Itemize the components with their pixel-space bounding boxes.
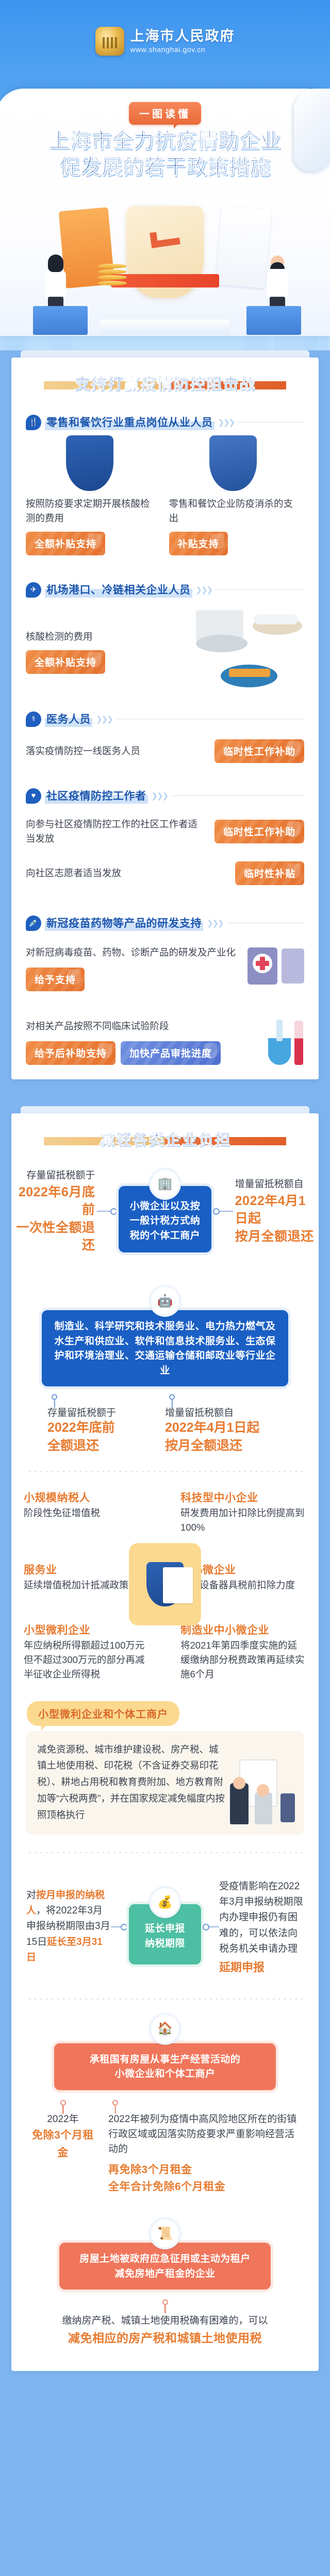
divider-line: [171, 795, 304, 796]
syringe-vaccine-icon: 💉: [26, 916, 41, 931]
subgroup-vaccine-rd: 💉 新冠疫苗药物等产品的研发支持 ❯❯❯: [11, 915, 319, 931]
small-profit-and-self-employed-block: 小型微利企业和个体工商户 减免资源税、城市维护建设税、房产税、城镇土地使用税、印…: [11, 1701, 319, 1835]
six-taxes-two-fees-text: 减免资源税、城市维护建设税、房产税、城镇土地使用税、印花税（不含证券交易印花税）…: [37, 1741, 226, 1823]
node1-left-emph1: 2022年6月底前: [11, 1183, 95, 1219]
node2-right-emph2: 按月全额退还: [165, 1437, 283, 1455]
card-lip-section1: [21, 350, 309, 358]
node2-left-emph1: 2022年底前: [47, 1419, 165, 1437]
tax-consult-people-icon: [228, 1759, 295, 1826]
pill-full-subsidy: 全额补贴支持: [26, 650, 105, 674]
cell-title: 科技型中小企业: [180, 1489, 306, 1505]
node2-left-emph2: 全额退还: [47, 1437, 165, 1455]
node1-right-lead: 增量留抵税额自: [235, 1177, 319, 1192]
pill-give-support: 给予支持: [26, 968, 85, 991]
doctor-icon: ⚕: [26, 711, 41, 727]
node3-right-text: 受疫情影响在2022年3月申报纳税期限内办理申报仍有困难的，可以依法向税务机关申…: [219, 1879, 317, 1975]
item-text: 落实疫情防控一线医务人员: [26, 744, 206, 758]
page-title-line1: 上海市全力抗疫情助企业: [0, 128, 330, 154]
node4-right-body: 2022年被列为疫情中高风险地区所在的街镇行政区域或因落实防疫要求严重影响经营活…: [108, 2112, 303, 2157]
node2-right-emph1: 2022年4月1日起: [165, 1419, 283, 1437]
section1-heading: 支持打赢疫情防控阻击战: [11, 358, 319, 405]
item-nucleic-test-cost-logistics: 核酸检测的费用 全额补贴支持: [26, 617, 191, 676]
white-document-icon: [216, 206, 272, 289]
subgroup-medical-staff: ⚕ 医务人员 ❯❯❯: [11, 711, 319, 727]
volunteer-item-row: 向社区志愿者适当发放 临时性补贴: [11, 846, 319, 885]
section2-card: 减轻各类企业负担 存量留抵税额于 2022年6月底前 一次性全额退还 🏢 小微企…: [11, 1113, 319, 2371]
node2-right-lead: 增量留抵税额自: [165, 1405, 283, 1419]
dotted-divider: [27, 1998, 303, 1999]
property-land-deed-icon: 📜: [149, 2217, 181, 2249]
radial-cell-manufacturing-msme: 制造业中小微企业 将2021年第四季度实施的延缓缴纳部分税费政策再延续实施6个月: [165, 1622, 319, 1681]
node1-right-emph1: 2022年4月1日起: [235, 1192, 319, 1228]
divider-line: [116, 719, 304, 719]
node1-right-emph2: 按月全额退还: [235, 1228, 319, 1246]
robot-arm-manufacturing-icon: 🤖: [149, 1285, 181, 1317]
retail-items-row: 按照防疫要求定期开展核酸检测的费用 全额补贴支持 零售和餐饮企业防疫消杀的支出 …: [11, 435, 319, 558]
node4-label-line1: 承租国有房屋从事生产经营活动的: [63, 2053, 267, 2067]
read-in-one-chart-badge: 一图读懂: [129, 102, 201, 125]
connector-right: [214, 1211, 233, 1212]
subgroup-label: 社区疫情防控工作者: [45, 788, 148, 804]
small-business-building-icon: 🏢: [149, 1168, 181, 1200]
node5-label-line2: 减免房地产租金的企业: [69, 2267, 261, 2282]
node2-right-text: 增量留抵税额自 2022年4月1日起 按月全额退还: [165, 1394, 283, 1454]
disinfection-workers-shield-icon: [209, 435, 257, 491]
subgroup-label: 零售和餐饮行业重点岗位从业人员: [45, 414, 214, 430]
restaurant-cutlery-icon: 🍴: [26, 415, 41, 430]
node1-left-lead: 存量留抵税额于: [11, 1168, 95, 1183]
node5-body-emph: 减免相应的房产税和城镇土地使用税: [27, 2329, 303, 2348]
item-text: 对新冠病毒疫苗、药物、诊断产品的研发及产业化: [26, 945, 240, 960]
pin-marker: [112, 2100, 118, 2106]
connector-left: [111, 1926, 126, 1927]
node4-left-text: 2022年 免除3个月租金: [27, 2100, 99, 2162]
node4-right-emph1: 再免除3个月租金: [108, 2161, 303, 2179]
radial-row-bottom: 小型微利企业 年应纳税所得额超过100万元但不超过300万元的部分再减半征收企业…: [11, 1622, 319, 1681]
podium-right: [246, 306, 301, 335]
hero-banner: 上海市人民政府 www.shanghai.gov.cn 一图读懂 上海市全力抗疫…: [0, 0, 330, 350]
check-icon: [150, 229, 180, 248]
pill-full-subsidy: 全额补贴支持: [26, 532, 105, 555]
pill-post-subsidy-support: 给予后补助支持: [26, 1041, 115, 1065]
pin-marker: [169, 1394, 175, 1400]
airport-items-row: 核酸检测的费用 全额补贴支持: [11, 603, 319, 690]
node4-label-line2: 小微企业和个体工商户: [63, 2067, 267, 2082]
medicine-pills-cross-icon: [247, 945, 304, 987]
divider-line: [238, 422, 304, 422]
lab-flask-test-tube-icon: [268, 1011, 304, 1065]
item-text: 向参与社区疫情防控工作的社区工作者适当发放: [26, 817, 206, 846]
tax-exemption-handshake-icon: [129, 1543, 201, 1625]
radial-cell-tech-sme: 科技型中小企业 研发费用加计扣除比例提高到100%: [165, 1489, 319, 1535]
coin-stack-icon: [98, 264, 127, 287]
node2-left-lead: 存量留抵税额于: [47, 1405, 165, 1419]
gov-url: www.shanghai.gov.cn: [130, 46, 235, 54]
pin-marker: [60, 2100, 66, 2106]
radial-cell-small-taxpayer: 小规模纳税人 阶段性免征增值税: [11, 1489, 165, 1535]
node4-left-emph: 免除3个月租金: [27, 2127, 99, 2161]
podium-center: [101, 319, 229, 335]
logistics-truck-plane-ship-icon: [191, 603, 304, 690]
subgroup-label: 医务人员: [45, 711, 92, 727]
item-text: 向社区志愿者适当发放: [26, 866, 227, 880]
section2-heading: 减轻各类企业负担: [11, 1113, 319, 1161]
connector-right: [204, 1926, 219, 1927]
section2-heading-text: 减轻各类企业负担: [11, 1127, 319, 1149]
community-volunteer-icon: ♥: [26, 788, 41, 804]
node-filing-extension: 对按月申报的纳税人，将2022年3月申报纳税期限由3月15日延长至3月31日 💰…: [11, 1867, 319, 1978]
subgroup-retail-catering: 🍴 零售和餐饮行业重点岗位从业人员 ❯❯❯: [11, 414, 319, 430]
dotted-divider: [27, 1852, 303, 1853]
node-small-micro-enterprise: 存量留抵税额于 2022年6月底前 一次性全额退还 🏢 小微企业以及按一般计税方…: [11, 1161, 319, 1259]
node1-left-emph2: 一次性全额退还: [11, 1219, 95, 1255]
tax-extension-coin-icon: 💰: [149, 1886, 181, 1918]
airplane-icon: ✈: [26, 582, 41, 598]
house-lease-document-icon: 🏠: [149, 2013, 181, 2045]
cell-body: 将2021年第四季度实施的延缓缴纳部分税费政策再延续实施6个月: [180, 1638, 306, 1681]
cell-body: 研发费用加计扣除比例提高到100%: [180, 1506, 306, 1535]
chevron-right-icon: ❯❯❯: [152, 791, 168, 801]
connector-left: [97, 1211, 116, 1212]
divider-line: [216, 589, 304, 590]
node2-label: 制造业、科学研究和技术服务业、电力热力燃气及水生产和供应业、软件和信息技术服务业…: [39, 1308, 291, 1389]
pin-marker: [52, 1394, 57, 1400]
cell-body: 阶段性免征增值税: [24, 1506, 153, 1520]
node2-left-text: 存量留抵税额于 2022年底前 全额退还: [47, 1394, 165, 1454]
pill-accelerate-approval: 加快产品审批进度: [121, 1041, 221, 1065]
gov-title: 上海市人民政府: [130, 29, 235, 43]
chevron-right-icon: ❯❯❯: [96, 715, 112, 724]
item-text: 按照防疫要求定期开展核酸检测的费用: [26, 497, 154, 526]
node1-left-text: 存量留抵税额于 2022年6月底前 一次性全额退还: [11, 1168, 97, 1255]
item-text: 对相关产品按照不同临床试验阶段: [26, 1019, 262, 1033]
community-worker-item-row: 向参与社区疫情防控工作的社区工作者适当发放 临时性工作补助: [11, 809, 319, 846]
node3-right-pre: 受疫情影响在2022年3月申报纳税期限内办理申报仍有困难的，可以依法向税务机关申…: [219, 1879, 305, 1957]
chevron-right-icon: ❯❯❯: [196, 585, 212, 595]
pill-subsidy: 补贴支持: [169, 532, 228, 555]
radial-row-top: 小规模纳税人 阶段性免征增值税 科技型中小企业 研发费用加计扣除比例提高到100…: [11, 1489, 319, 1535]
tax-relief-radial-grid: 小规模纳税人 阶段性免征增值税 科技型中小企业 研发费用加计扣除比例提高到100…: [11, 1485, 319, 1684]
medical-item-row: 落实疫情防控一线医务人员 临时性工作补助: [11, 732, 319, 763]
vaccine-rd-item-row: 对新冠病毒疫苗、药物、诊断产品的研发及产业化 给予支持: [11, 936, 319, 993]
nucleic-acid-test-shield-icon: [66, 435, 113, 491]
chevron-right-icon: ❯❯❯: [218, 418, 235, 427]
dotted-divider: [27, 1471, 303, 1472]
tag-small-profit-self-employed: 小型微利企业和个体工商户: [27, 1701, 179, 1726]
node3-left-pre: 对: [26, 1890, 36, 1901]
node4-right-emph2: 全年合计免除6个月租金: [108, 2178, 303, 2196]
node4-left-year: 2022年: [27, 2112, 99, 2127]
podium-left: [33, 306, 88, 335]
radial-cell-small-profit-enterprise: 小型微利企业 年应纳税所得额超过100万元但不超过300万元的部分再减半征收企业…: [11, 1622, 165, 1681]
page-title: 上海市全力抗疫情助企业 促发展的若干政策措施: [0, 128, 330, 180]
shanghai-government-emblem-icon: [95, 27, 124, 56]
chevron-right-icon: ❯❯❯: [207, 919, 223, 928]
node4-right-text: 2022年被列为疫情中高风险地区所在的街镇行政区域或因落实防疫要求严重影响经营活…: [108, 2100, 303, 2196]
page-title-line2: 促发展的若干政策措施: [0, 154, 330, 180]
node-property-tax-relief: 📜 房屋土地被政府应急征用或主动为租户 减免房地产租金的企业 缴纳房产税、城镇土…: [11, 2217, 319, 2350]
section1-heading-text: 支持打赢疫情防控阻击战: [11, 371, 319, 394]
subgroup-community-workers: ♥ 社区疫情防控工作者 ❯❯❯: [11, 788, 319, 804]
pill-temporary-work-allowance: 临时性工作补助: [214, 820, 304, 843]
pill-temporary-work-allowance: 临时性工作补助: [214, 739, 304, 763]
subgroup-airport-port-coldchain: ✈ 机场港口、冷链相关企业人员 ❯❯❯: [11, 582, 319, 598]
cell-body: 年应纳税所得额超过100万元但不超过300万元的部分再减半征收企业所得税: [24, 1638, 153, 1681]
six-taxes-two-fees-box: 减免资源税、城市维护建设税、房产税、城镇土地使用税、印花税（不含证券交易印花税）…: [26, 1731, 304, 1835]
node3-left-text: 对按月申报的纳税人，将2022年3月申报纳税期限由3月15日延长至3月31日: [13, 1888, 111, 1966]
node-state-owned-rent-exemption: 🏠 承租国有房屋从事生产经营活动的 小微企业和个体工商户 2022年 免除3个月…: [11, 2013, 319, 2199]
subgroup-label: 机场港口、冷链相关企业人员: [45, 582, 192, 598]
item-nucleic-test-cost: 按照防疫要求定期开展核酸检测的费用 全额补贴支持: [26, 435, 161, 558]
item-text: 核酸检测的费用: [26, 630, 184, 644]
cell-title: 制造业中小微企业: [180, 1622, 306, 1637]
cell-title: 小规模纳税人: [24, 1489, 153, 1505]
card-lip-section2: [21, 1106, 309, 1113]
node5-body-lead: 缴纳房产税、城镇土地使用税确有困难的，可以: [27, 2313, 303, 2328]
pill-temporary-subsidy: 临时性补贴: [235, 861, 304, 885]
ribbon-decoration: [111, 274, 219, 287]
node-manufacturing-industries: 🤖 制造业、科学研究和技术服务业、电力热力燃气及水生产和供应业、软件和信息技术服…: [11, 1285, 319, 1458]
item-text: 零售和餐饮企业防疫消杀的支出: [169, 497, 298, 526]
node1-right-text: 增量留抵税额自 2022年4月1日起 按月全额退还: [233, 1177, 319, 1245]
node4-label: 承租国有房屋从事生产经营活动的 小微企业和个体工商户: [52, 2041, 278, 2093]
node5-label-line1: 房屋土地被政府应急征用或主动为租户: [69, 2252, 261, 2267]
pin-marker: [162, 2299, 168, 2305]
hero-illustration: [0, 206, 330, 335]
section1-card: 支持打赢疫情防控阻击战 🍴 零售和餐饮行业重点岗位从业人员 ❯❯❯ 按照防疫要求…: [11, 358, 319, 1079]
item-disinfection-cost: 零售和餐饮企业防疫消杀的支出 补贴支持: [169, 435, 305, 558]
subgroup-label: 新冠疫苗药物等产品的研发支持: [45, 915, 203, 931]
node3-right-emph: 延期申报: [219, 1958, 305, 1975]
divider-line: [227, 923, 304, 923]
government-identity-bar: 上海市人民政府 www.shanghai.gov.cn: [0, 27, 330, 56]
clinical-trial-item-row: 对相关产品按照不同临床试验阶段 给予后补助支持 加快产品审批进度: [11, 994, 319, 1065]
